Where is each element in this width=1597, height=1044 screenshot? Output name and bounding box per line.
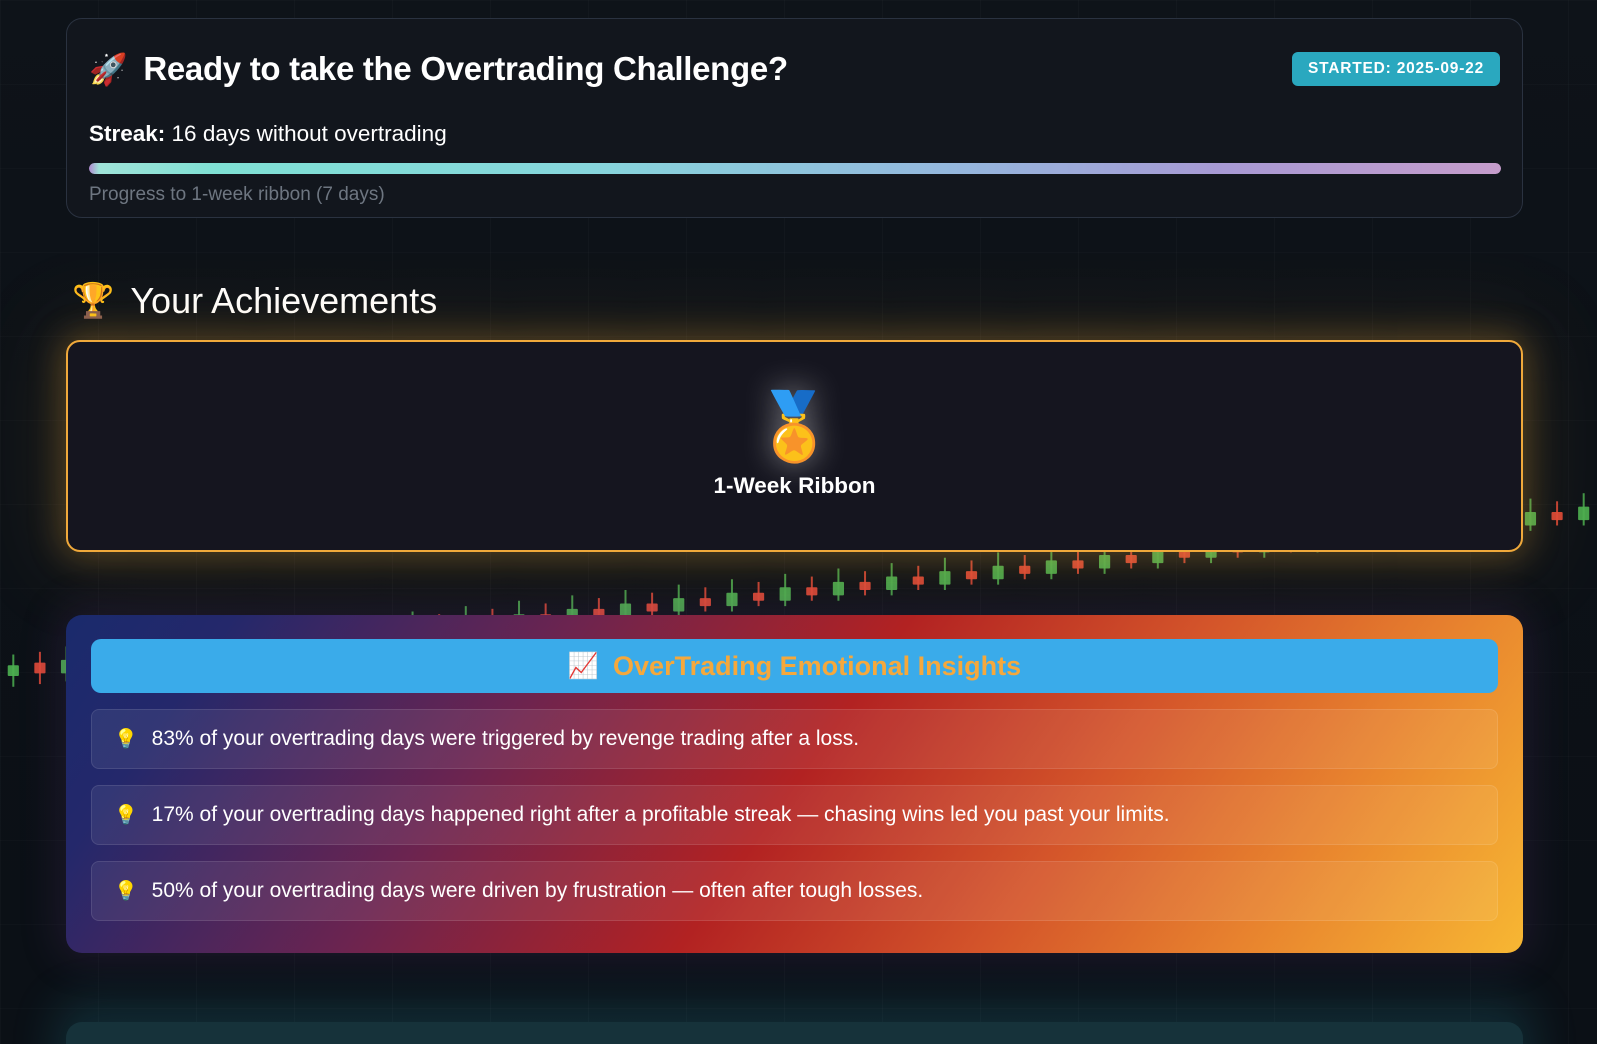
streak-label: Streak: <box>89 121 165 146</box>
rocket-icon: 🚀 <box>89 54 127 85</box>
insight-text: 50% of your overtrading days were driven… <box>152 879 924 903</box>
streak-progress-fill <box>89 163 1501 174</box>
challenge-header: 🚀 Ready to take the Overtrading Challeng… <box>89 47 1500 91</box>
next-section-card <box>66 1022 1523 1044</box>
insight-row[interactable]: 💡 17% of your overtrading days happened … <box>91 785 1498 845</box>
chart-increasing-icon: 📈 <box>568 652 599 681</box>
lightbulb-icon: 💡 <box>114 727 138 751</box>
insights-header: 📈 OverTrading Emotional Insights <box>91 639 1498 693</box>
achievements-heading: 🏆 Your Achievements <box>72 280 437 322</box>
insight-text: 83% of your overtrading days were trigge… <box>152 727 859 751</box>
insight-row[interactable]: 💡 83% of your overtrading days were trig… <box>91 709 1498 769</box>
medal-icon: 🏅 <box>753 393 835 459</box>
streak-line: Streak: 16 days without overtrading <box>89 121 1500 147</box>
progress-caption: Progress to 1-week ribbon (7 days) <box>89 184 1500 206</box>
challenge-title-text: Ready to take the Overtrading Challenge? <box>143 50 788 88</box>
app-root: 🚀 Ready to take the Overtrading Challeng… <box>0 0 1597 1044</box>
lightbulb-icon: 💡 <box>114 803 138 827</box>
emotional-insights-card: 📈 OverTrading Emotional Insights 💡 83% o… <box>66 615 1523 953</box>
started-date-badge: STARTED: 2025-09-22 <box>1292 52 1500 86</box>
streak-progress-bar <box>89 163 1501 174</box>
overtrading-challenge-card: 🚀 Ready to take the Overtrading Challeng… <box>66 18 1523 218</box>
insights-header-title: OverTrading Emotional Insights <box>613 651 1021 682</box>
lightbulb-icon: 💡 <box>114 879 138 903</box>
badge-label: 1-Week Ribbon <box>713 473 875 499</box>
challenge-title: 🚀 Ready to take the Overtrading Challeng… <box>89 50 788 88</box>
insight-row[interactable]: 💡 50% of your overtrading days were driv… <box>91 861 1498 921</box>
insight-text: 17% of your overtrading days happened ri… <box>152 803 1170 827</box>
achievement-badge-card[interactable]: 🏅 1-Week Ribbon <box>66 340 1523 552</box>
trophy-icon: 🏆 <box>72 281 114 321</box>
streak-value: 16 days without overtrading <box>165 121 446 146</box>
achievements-heading-text: Your Achievements <box>130 280 437 322</box>
